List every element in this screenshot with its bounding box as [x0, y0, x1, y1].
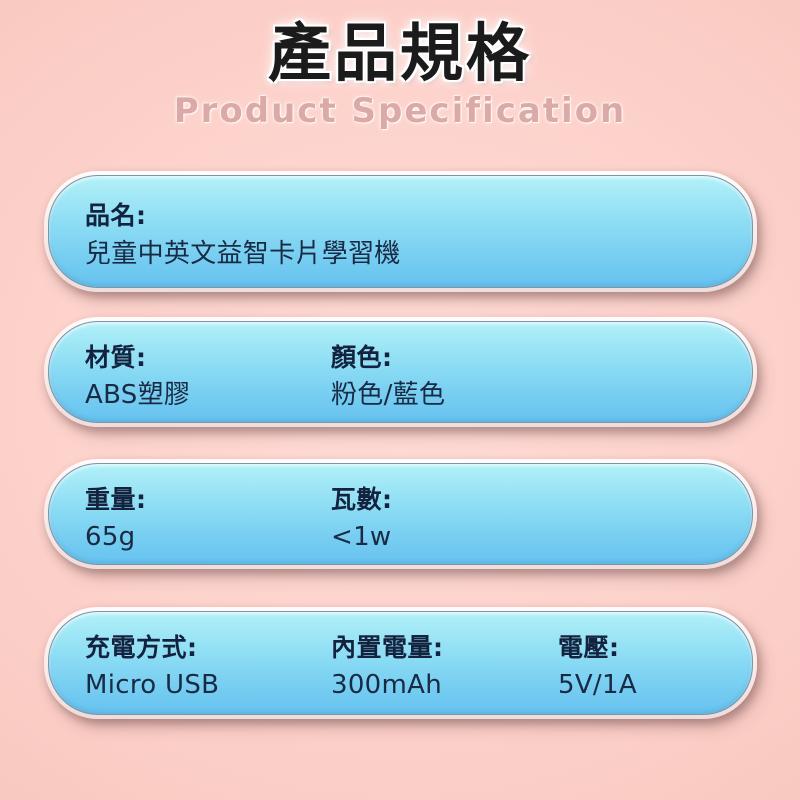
product-specification-poster: 產品規格 Product Specification 品名: 兒童中英文益智卡片…: [0, 0, 800, 800]
spec-card-body: 重量: 65g 瓦數: <1w: [48, 463, 753, 565]
spec-columns: 充電方式: Micro USB 內置電量: 300mAh 電壓: 5V/1A: [49, 612, 752, 714]
spec-label: 顏色:: [331, 343, 393, 373]
spec-value: 300mAh: [331, 669, 442, 701]
spec-label: 材質:: [85, 343, 147, 373]
spec-label: 充電方式:: [85, 633, 198, 663]
spec-card-material-color: 材質: ABS塑膠 顏色: 粉色/藍色: [44, 317, 757, 427]
spec-label: 瓦數:: [331, 485, 393, 515]
spec-value: <1w: [331, 521, 392, 553]
spec-card-body: 品名: 兒童中英文益智卡片學習機: [48, 175, 753, 288]
spec-value: 5V/1A: [558, 669, 637, 701]
spec-card-body: 充電方式: Micro USB 內置電量: 300mAh 電壓: 5V/1A: [48, 611, 753, 715]
spec-columns: 品名: 兒童中英文益智卡片學習機: [49, 176, 752, 287]
spec-value: 兒童中英文益智卡片學習機: [85, 238, 401, 270]
spec-card-body: 材質: ABS塑膠 顏色: 粉色/藍色: [48, 321, 753, 423]
poster-header: 產品規格 Product Specification: [0, 0, 800, 150]
spec-label: 重量:: [85, 485, 147, 515]
spec-card-power: 充電方式: Micro USB 內置電量: 300mAh 電壓: 5V/1A: [44, 607, 757, 719]
spec-card-product-name: 品名: 兒童中英文益智卡片學習機: [44, 171, 757, 292]
spec-columns: 材質: ABS塑膠 顏色: 粉色/藍色: [49, 322, 752, 422]
spec-value: ABS塑膠: [85, 379, 190, 411]
spec-label: 內置電量:: [331, 633, 444, 663]
spec-card-weight-wattage: 重量: 65g 瓦數: <1w: [44, 459, 757, 569]
spec-value: 65g: [85, 521, 136, 553]
spec-value: Micro USB: [85, 669, 219, 701]
spec-value: 粉色/藍色: [331, 379, 445, 411]
spec-label: 品名:: [85, 201, 147, 231]
spec-columns: 重量: 65g 瓦數: <1w: [49, 464, 752, 564]
page-subtitle-english: Product Specification: [0, 92, 800, 130]
spec-label: 電壓:: [558, 633, 620, 663]
page-title-chinese: 產品規格: [0, 21, 800, 87]
